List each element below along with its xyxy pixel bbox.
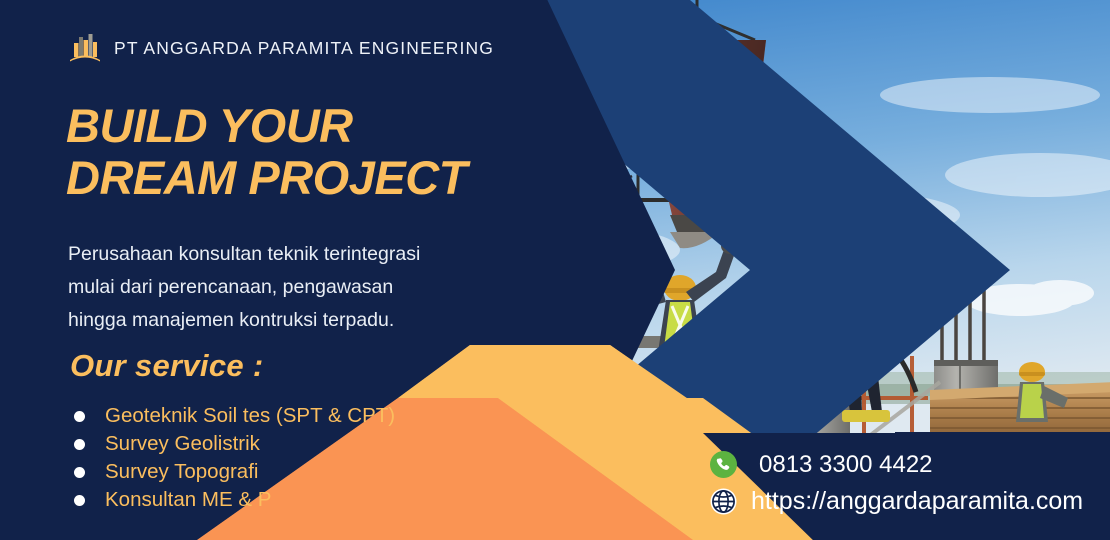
services-list: Geoteknik Soil tes (SPT & CPT) Survey Ge… [74, 402, 395, 514]
bullet-icon [74, 495, 85, 506]
phone-number: 0813 3300 4422 [759, 450, 933, 479]
left-content-panel: PT ANGGARDA PARAMITA ENGINEERING BUILD Y… [0, 0, 540, 540]
bullet-icon [74, 411, 85, 422]
bullet-icon [74, 439, 85, 450]
contact-website-row[interactable]: https://anggardaparamita.com [709, 483, 1083, 520]
contact-block: 0813 3300 4422 https://anggardaparamita.… [709, 446, 1083, 520]
list-item: Survey Geolistrik [74, 430, 395, 458]
page-title: BUILD YOUR DREAM PROJECT [66, 100, 467, 204]
brand-logo: PT ANGGARDA PARAMITA ENGINEERING [68, 31, 494, 65]
contact-phone-row[interactable]: 0813 3300 4422 [709, 446, 1083, 483]
hero-description: Perusahaan konsultan teknik terintegrasi… [68, 238, 488, 337]
service-label: Geoteknik Soil tes (SPT & CPT) [105, 402, 395, 430]
company-name: PT ANGGARDA PARAMITA ENGINEERING [114, 38, 494, 59]
list-item: Konsultan ME & P [74, 486, 395, 514]
list-item: Survey Topografi [74, 458, 395, 486]
globe-icon [709, 487, 738, 516]
service-label: Survey Topografi [105, 458, 258, 486]
service-label: Konsultan ME & P [105, 486, 271, 514]
bullet-icon [74, 467, 85, 478]
whatsapp-phone-icon [709, 450, 738, 479]
list-item: Geoteknik Soil tes (SPT & CPT) [74, 402, 395, 430]
services-heading: Our service : [70, 348, 263, 384]
website-url: https://anggardaparamita.com [751, 487, 1083, 516]
service-label: Survey Geolistrik [105, 430, 260, 458]
promotional-banner: PT ANGGARDA PARAMITA ENGINEERING BUILD Y… [0, 0, 1110, 540]
building-skyline-icon [68, 31, 102, 65]
